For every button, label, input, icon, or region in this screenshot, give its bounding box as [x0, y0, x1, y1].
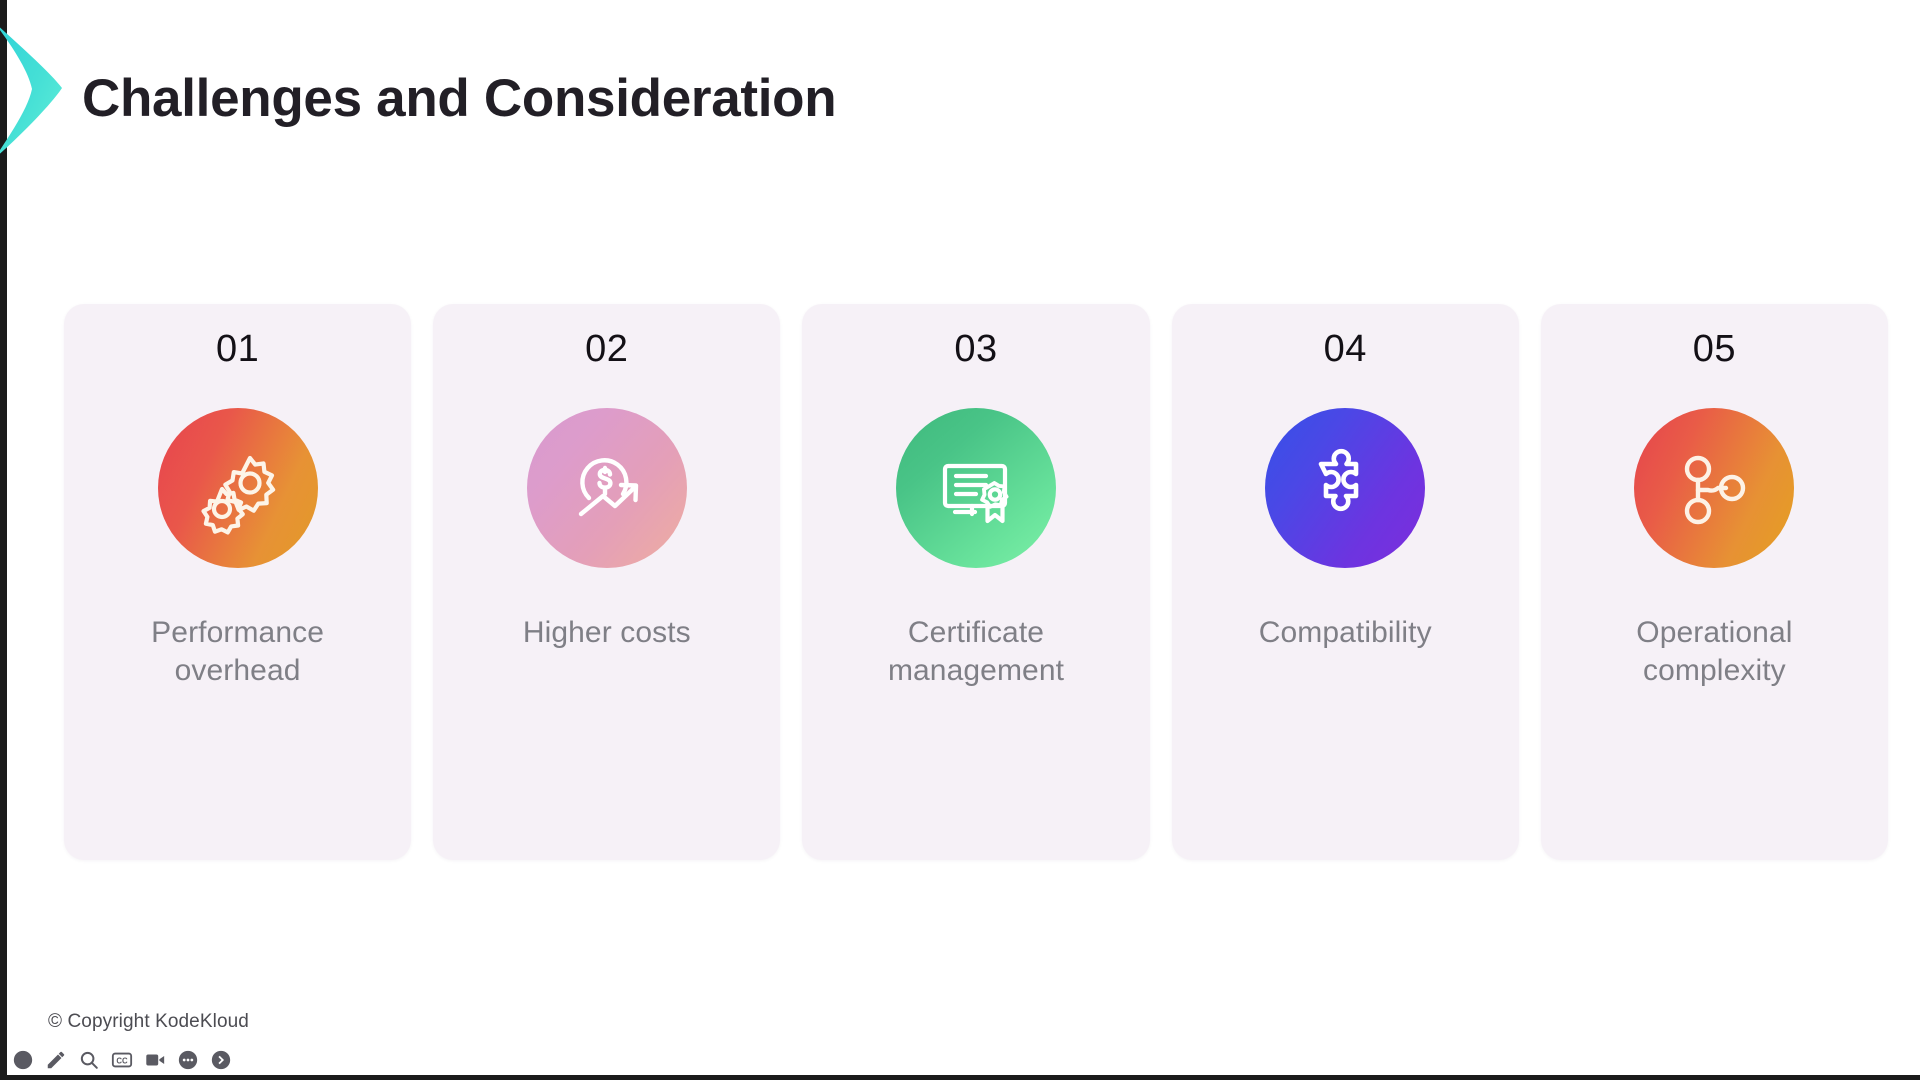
challenge-card[interactable]: 03: [802, 304, 1149, 860]
card-icon-bubble: [527, 408, 687, 568]
card-icon-bubble: [158, 408, 318, 568]
arrow-left-circle-icon: [12, 1049, 34, 1071]
captions-button[interactable]: CC: [110, 1048, 134, 1072]
copyright-text: © Copyright KodeKloud: [48, 1011, 249, 1033]
card-label: Higher costs: [458, 614, 757, 652]
slide-root: Challenges and Consideration 01 Per: [0, 0, 1920, 1080]
brand-chevron-icon: [0, 18, 70, 163]
card-label: Certificate management: [827, 614, 1126, 691]
card-icon-bubble: [1265, 408, 1425, 568]
annotate-button[interactable]: [44, 1048, 68, 1072]
closed-captions-icon: CC: [111, 1049, 133, 1071]
challenge-card[interactable]: 01 Performance overhead: [64, 304, 411, 860]
gears-icon: [190, 440, 286, 536]
player-frame-bottom-edge: [0, 1075, 1920, 1080]
arrow-right-circle-icon: [210, 1049, 232, 1071]
challenge-card[interactable]: 04 Compatibility: [1172, 304, 1519, 860]
dollar-trend-up-icon: [559, 440, 655, 536]
card-label: Operational complexity: [1565, 614, 1864, 691]
rewind-button[interactable]: [11, 1048, 35, 1072]
svg-text:CC: CC: [116, 1057, 128, 1066]
node-network-icon: [1666, 440, 1762, 536]
card-number: 03: [954, 330, 997, 368]
card-number: 02: [585, 330, 628, 368]
video-button[interactable]: [143, 1048, 167, 1072]
card-number: 05: [1693, 330, 1736, 368]
certificate-award-icon: [928, 440, 1024, 536]
puzzle-piece-icon: [1297, 440, 1393, 536]
challenge-card[interactable]: 05 Operational complexity: [1541, 304, 1888, 860]
challenge-card[interactable]: 02 Higher costs: [433, 304, 780, 860]
magnifier-icon: [78, 1049, 100, 1071]
card-number: 04: [1324, 330, 1367, 368]
slide-header: Challenges and Consideration: [0, 0, 1920, 200]
more-button[interactable]: [176, 1048, 200, 1072]
pencil-icon: [45, 1049, 67, 1071]
ellipsis-circle-icon: [177, 1049, 199, 1071]
card-number: 01: [216, 330, 259, 368]
player-toolbar: CC: [7, 1045, 233, 1075]
card-icon-bubble: [896, 408, 1056, 568]
card-icon-bubble: [1634, 408, 1794, 568]
forward-button[interactable]: [209, 1048, 233, 1072]
challenge-card-list: 01 Performance overhead 02: [64, 304, 1888, 860]
card-label: Compatibility: [1196, 614, 1495, 652]
zoom-button[interactable]: [77, 1048, 101, 1072]
video-camera-icon: [144, 1049, 166, 1071]
card-label: Performance overhead: [88, 614, 387, 691]
page-title: Challenges and Consideration: [82, 68, 836, 129]
